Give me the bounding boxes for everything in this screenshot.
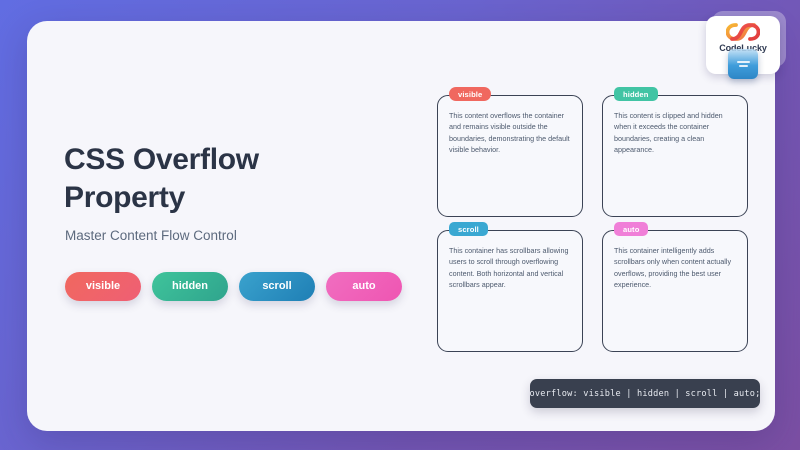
pill-auto[interactable]: auto (326, 272, 402, 301)
page-subtitle: Master Content Flow Control (65, 228, 394, 243)
pill-scroll[interactable]: scroll (239, 272, 315, 301)
pill-hidden-label: hidden (172, 280, 208, 292)
card-badge-visible-label: visible (458, 90, 482, 99)
pill-hidden[interactable]: hidden (152, 272, 228, 301)
card-badge-auto-label: auto (623, 225, 639, 234)
css-chip-icon (728, 49, 758, 79)
card-badge-hidden: hidden (614, 87, 658, 101)
slide-stage: CSS Overflow Property Master Content Flo… (0, 0, 800, 450)
card-text-visible: This content overflows the container and… (438, 96, 582, 156)
code-snippet-bar: overflow: visible | hidden | scroll | au… (530, 379, 760, 408)
card-badge-visible: visible (449, 87, 491, 101)
demo-card-auto[interactable]: auto This container intelligently adds s… (602, 230, 748, 352)
card-badge-hidden-label: hidden (623, 90, 649, 99)
pill-visible[interactable]: visible (65, 272, 141, 301)
pill-auto-label: auto (352, 280, 375, 292)
pill-scroll-label: scroll (262, 280, 291, 292)
presentation-slide: CSS Overflow Property Master Content Flo… (27, 21, 775, 431)
demo-card-visible[interactable]: visible This content overflows the conta… (437, 95, 583, 217)
infinity-leaf-icon (726, 22, 760, 42)
card-badge-scroll-label: scroll (458, 225, 479, 234)
overflow-value-pill-row: visible hidden scroll auto (65, 272, 394, 301)
chip-line-2 (739, 65, 748, 67)
card-text-scroll: This container has scrollbars allowing u… (438, 231, 582, 291)
page-title: CSS Overflow Property (64, 141, 279, 218)
brand-logo[interactable]: CodeLucky (706, 7, 792, 82)
slide-heading-block: CSS Overflow Property Master Content Flo… (64, 141, 394, 301)
overflow-demo-card-grid: visible This content overflows the conta… (437, 95, 762, 352)
card-badge-auto: auto (614, 222, 648, 236)
chip-line-1 (737, 61, 750, 63)
demo-card-scroll[interactable]: scroll This container has scrollbars all… (437, 230, 583, 352)
code-snippet-text: overflow: visible | hidden | scroll | au… (529, 389, 760, 399)
card-text-auto: This container intelligently adds scroll… (603, 231, 747, 291)
demo-card-hidden[interactable]: hidden This content is clipped and hidde… (602, 95, 748, 217)
pill-visible-label: visible (86, 280, 120, 292)
card-text-hidden: This content is clipped and hidden when … (603, 96, 747, 156)
card-badge-scroll: scroll (449, 222, 488, 236)
